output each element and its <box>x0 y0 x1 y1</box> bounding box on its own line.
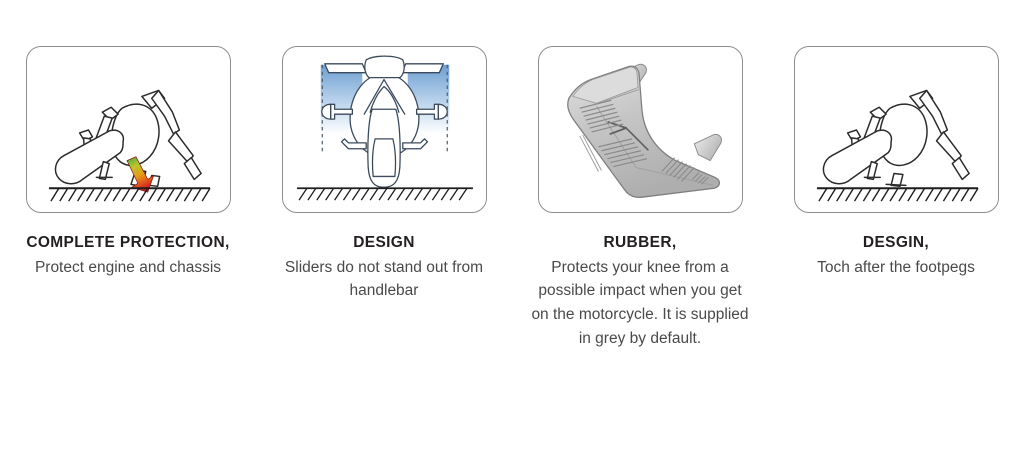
feature-card-design: DESIGN Sliders do not stand out from han… <box>256 46 512 303</box>
motorcycle-front-view-handlebar-width-icon <box>283 47 486 212</box>
feature-card-desgin: DESGIN, Toch after the footpegs <box>768 46 1024 279</box>
illustration-frame-3 <box>538 46 743 213</box>
card-body: Toch after the footpegs <box>787 256 1005 280</box>
feature-grid: COMPLETE PROTECTION, Protect engine and … <box>0 0 1024 350</box>
card-body: Protects your knee from a possible impac… <box>531 256 749 350</box>
card-text-3: RUBBER, Protects your knee from a possib… <box>531 232 749 350</box>
card-title: DESIGN <box>275 232 493 255</box>
motorcycle-fallen-touching-footpegs-icon <box>795 47 998 212</box>
illustration-frame-2 <box>282 46 487 213</box>
motorcycle-fallen-on-side-with-impact-arrow-icon <box>27 47 230 212</box>
feature-card-complete-protection: COMPLETE PROTECTION, Protect engine and … <box>0 46 256 279</box>
illustration-frame-4 <box>794 46 999 213</box>
card-text-1: COMPLETE PROTECTION, Protect engine and … <box>19 232 237 279</box>
card-body: Protect engine and chassis <box>19 256 237 280</box>
feature-card-rubber: RUBBER, Protects your knee from a possib… <box>512 46 768 350</box>
card-title: DESGIN, <box>787 232 1005 255</box>
illustration-frame-1 <box>26 46 231 213</box>
card-body: Sliders do not stand out from handlebar <box>275 256 493 303</box>
card-text-4: DESGIN, Toch after the footpegs <box>787 232 1005 279</box>
card-title: COMPLETE PROTECTION, <box>19 232 237 255</box>
rubber-slider-product-icon <box>539 47 742 212</box>
card-text-2: DESIGN Sliders do not stand out from han… <box>275 232 493 303</box>
card-title: RUBBER, <box>531 232 749 255</box>
